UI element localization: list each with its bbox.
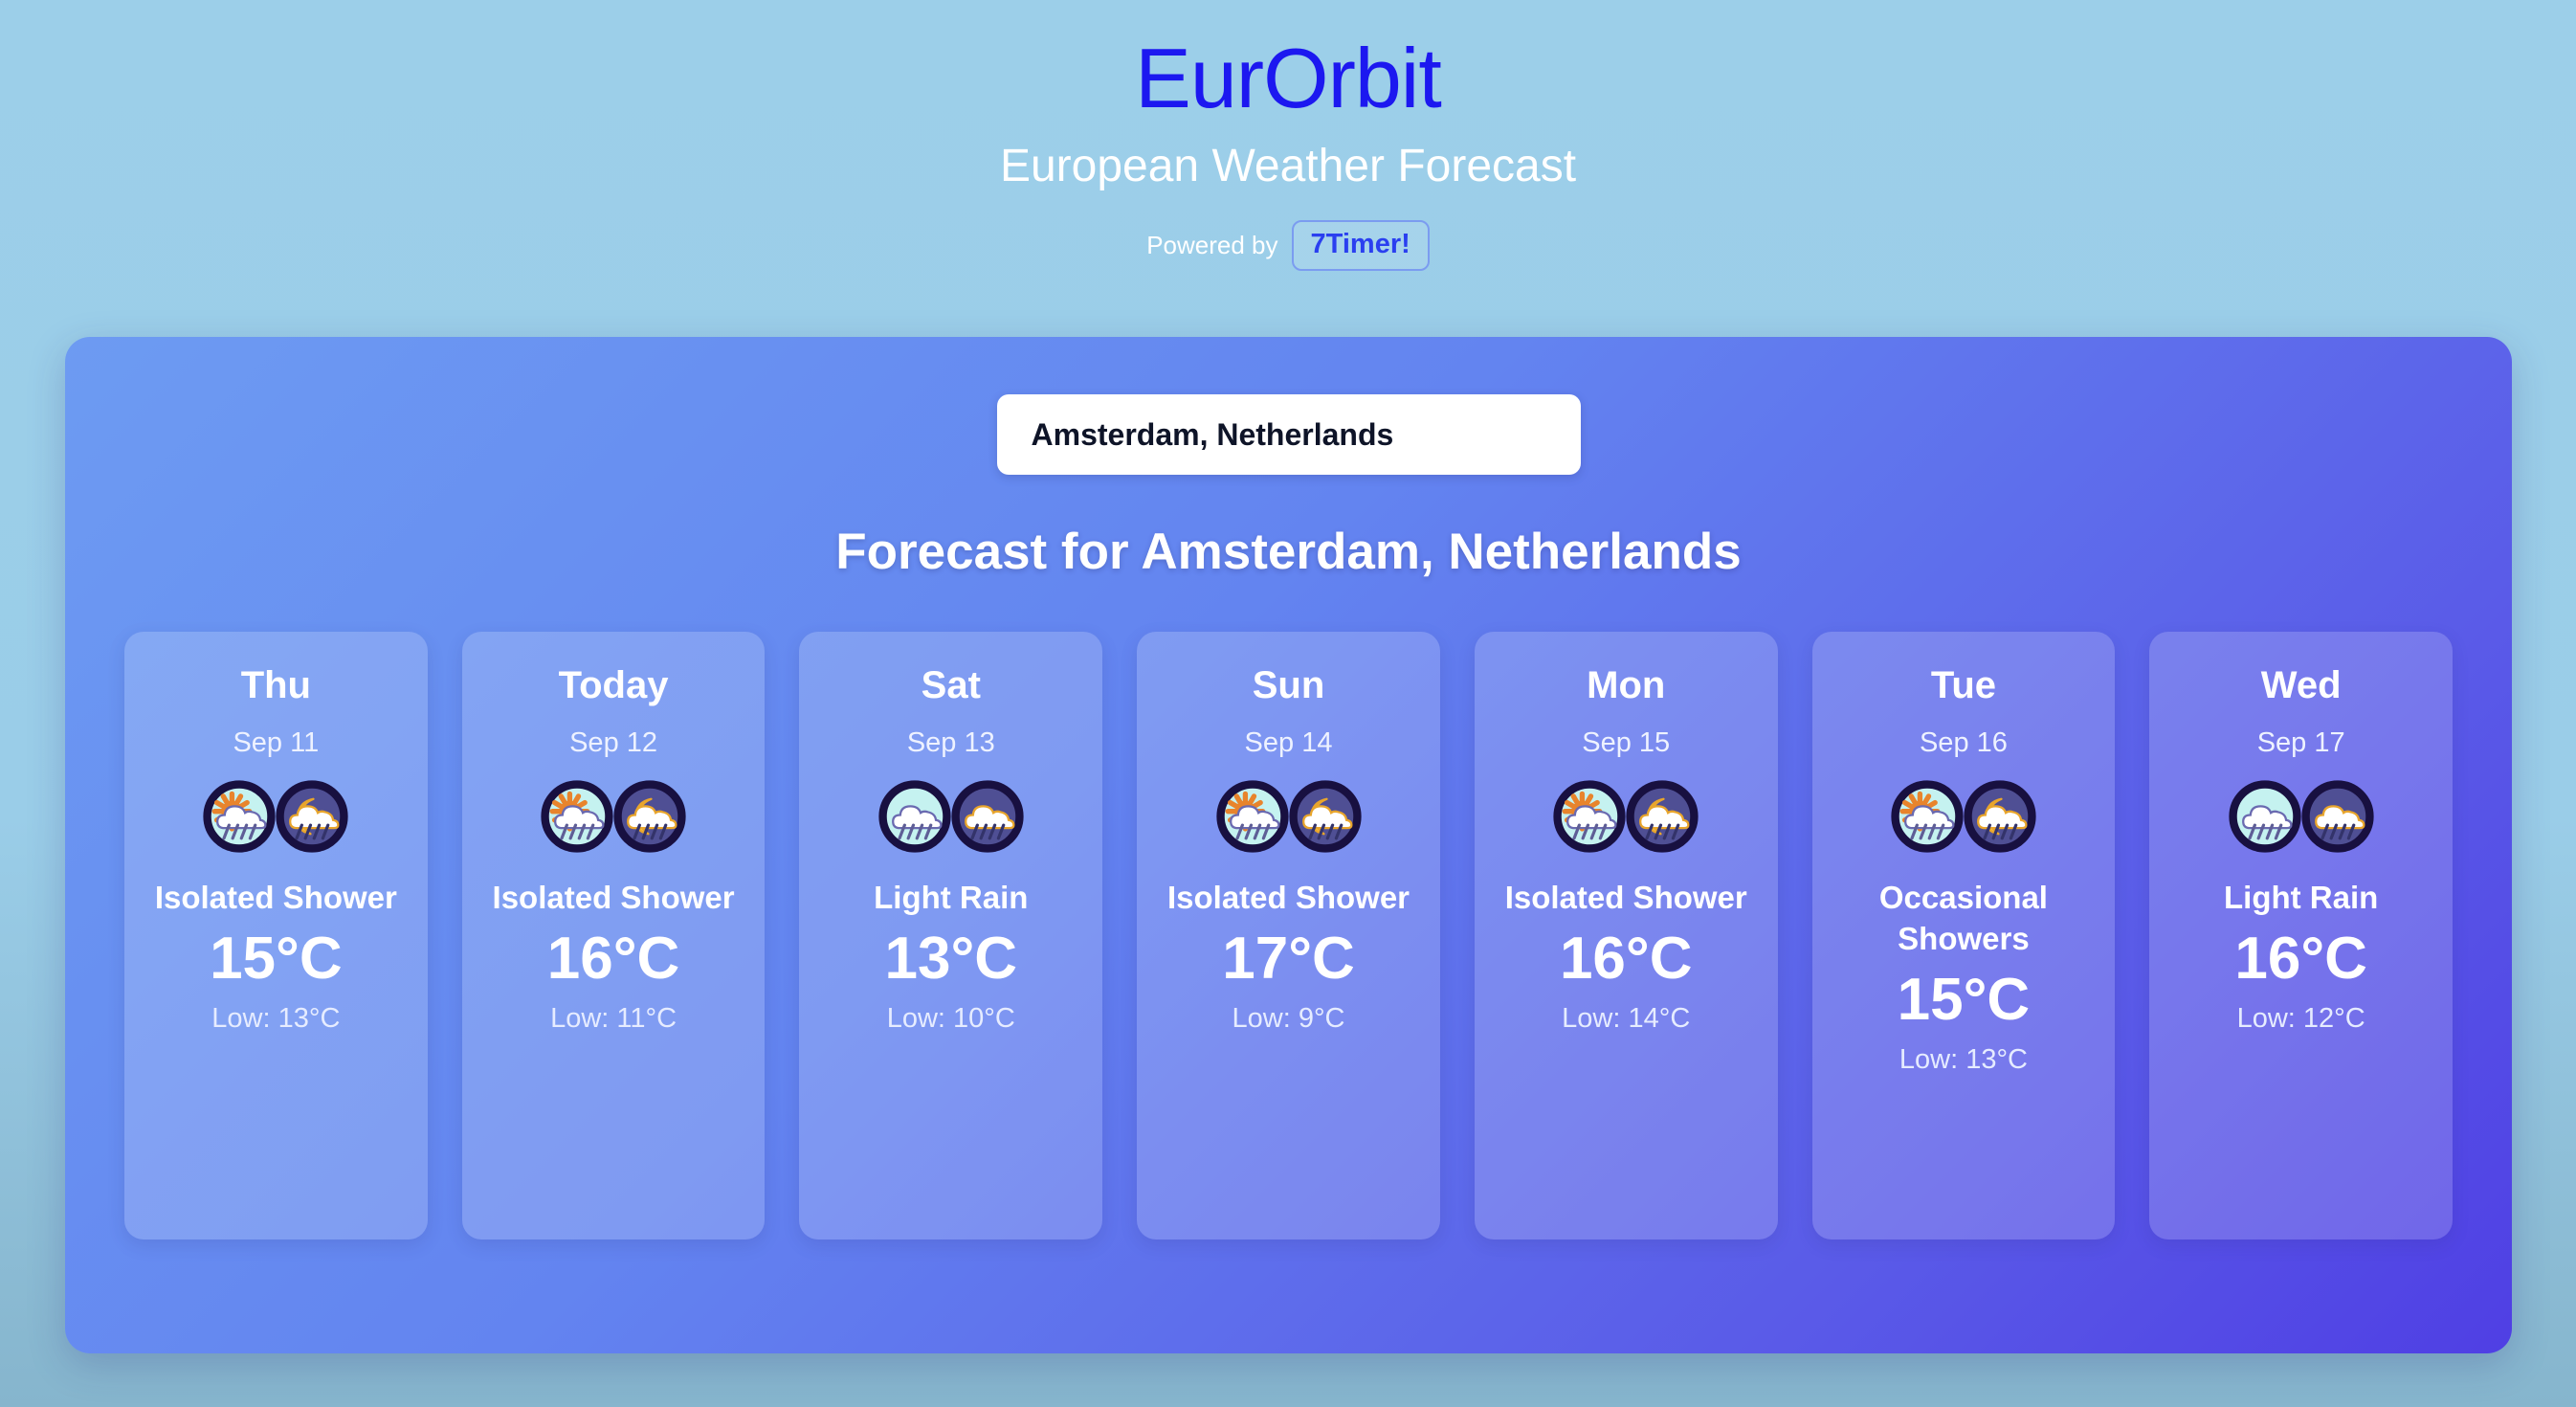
day-condition: Light Rain xyxy=(2214,878,2387,919)
moon-cloud-rain-icon xyxy=(613,780,686,853)
forecast-day-card[interactable]: MonSep 15Isolated Shower16°CLow: 14°C xyxy=(1475,632,1778,1239)
powered-by-row: Powered by 7Timer! xyxy=(0,220,2576,271)
day-condition: Isolated Shower xyxy=(145,878,407,919)
day-low-temp: Low: 11°C xyxy=(550,1005,677,1033)
page-header: EurOrbit European Weather Forecast Power… xyxy=(0,0,2576,271)
cloud-rain-icon xyxy=(878,780,951,853)
forecast-day-card[interactable]: TodaySep 12Isolated Shower16°CLow: 11°C xyxy=(462,632,766,1239)
day-name: Tue xyxy=(1931,666,1996,704)
cloud-rain-night-icon xyxy=(2301,780,2374,853)
day-low-temp: Low: 13°C xyxy=(1899,1046,2028,1074)
weather-icons-pair xyxy=(541,780,686,853)
forecast-day-card[interactable]: SatSep 13Light Rain13°CLow: 10°C xyxy=(799,632,1102,1239)
day-name: Sat xyxy=(922,666,981,704)
cloud-rain-night-icon xyxy=(951,780,1024,853)
moon-cloud-rain-icon xyxy=(276,780,348,853)
day-low-temp: Low: 13°C xyxy=(211,1005,340,1033)
day-date: Sep 13 xyxy=(907,729,995,757)
day-date: Sep 17 xyxy=(2257,729,2345,757)
app-title: EurOrbit xyxy=(0,36,2576,121)
day-high-temp: 16°C xyxy=(547,927,680,992)
sun-cloud-rain-icon xyxy=(1553,780,1626,853)
day-high-temp: 15°C xyxy=(1898,968,2031,1033)
sun-cloud-rain-icon xyxy=(1216,780,1289,853)
day-name: Today xyxy=(559,666,669,704)
day-date: Sep 12 xyxy=(569,729,657,757)
forecast-day-card[interactable]: ThuSep 11Isolated Shower15°CLow: 13°C xyxy=(124,632,428,1239)
day-high-temp: 16°C xyxy=(2234,927,2367,992)
weather-icons-pair xyxy=(1216,780,1362,853)
day-name: Sun xyxy=(1253,666,1325,704)
day-low-temp: Low: 14°C xyxy=(1562,1005,1690,1033)
day-high-temp: 15°C xyxy=(210,927,343,992)
forecast-heading: Forecast for Amsterdam, Netherlands xyxy=(65,526,2512,577)
day-name: Wed xyxy=(2261,666,2342,704)
seventimer-link[interactable]: 7Timer! xyxy=(1292,220,1430,271)
city-select[interactable]: Amsterdam, Netherlands xyxy=(997,394,1581,475)
day-date: Sep 16 xyxy=(1920,729,2008,757)
forecast-day-card[interactable]: SunSep 14Isolated Shower17°CLow: 9°C xyxy=(1137,632,1440,1239)
day-low-temp: Low: 12°C xyxy=(2237,1005,2365,1033)
sun-cloud-rain-icon xyxy=(203,780,276,853)
powered-by-label: Powered by xyxy=(1146,231,1277,260)
moon-cloud-rain-icon xyxy=(1626,780,1699,853)
day-name: Thu xyxy=(241,666,311,704)
day-high-temp: 16°C xyxy=(1560,927,1693,992)
day-name: Mon xyxy=(1587,666,1665,704)
day-low-temp: Low: 10°C xyxy=(887,1005,1015,1033)
day-condition: Light Rain xyxy=(864,878,1037,919)
weather-icons-pair xyxy=(878,780,1024,853)
sun-cloud-rain-icon xyxy=(1891,780,1964,853)
weather-icons-pair xyxy=(203,780,348,853)
sun-cloud-rain-icon xyxy=(541,780,613,853)
forecast-panel: Amsterdam, Netherlands Forecast for Amst… xyxy=(65,337,2512,1353)
day-condition: Isolated Shower xyxy=(1158,878,1419,919)
day-high-temp: 13°C xyxy=(885,927,1018,992)
day-condition: Isolated Shower xyxy=(483,878,744,919)
forecast-cards-row: ThuSep 11Isolated Shower15°CLow: 13°CTod… xyxy=(65,632,2512,1239)
day-condition: Isolated Shower xyxy=(1496,878,1757,919)
day-date: Sep 11 xyxy=(233,729,319,757)
day-date: Sep 15 xyxy=(1582,729,1670,757)
cloud-rain-icon xyxy=(2229,780,2301,853)
weather-icons-pair xyxy=(1891,780,2036,853)
weather-icons-pair xyxy=(2229,780,2374,853)
day-condition: Occasional Showers xyxy=(1812,878,2116,960)
day-date: Sep 14 xyxy=(1245,729,1333,757)
app-subtitle: European Weather Forecast xyxy=(0,144,2576,190)
city-select-wrap: Amsterdam, Netherlands xyxy=(65,394,2512,475)
moon-cloud-rain-icon xyxy=(1964,780,2036,853)
moon-cloud-rain-icon xyxy=(1289,780,1362,853)
forecast-day-card[interactable]: WedSep 17Light Rain16°CLow: 12°C xyxy=(2149,632,2453,1239)
weather-icons-pair xyxy=(1553,780,1699,853)
footer-sliver xyxy=(0,1390,2576,1407)
day-low-temp: Low: 9°C xyxy=(1232,1005,1345,1033)
forecast-day-card[interactable]: TueSep 16Occasional Showers15°CLow: 13°C xyxy=(1812,632,2116,1239)
city-select-value: Amsterdam, Netherlands xyxy=(1032,417,1394,453)
day-high-temp: 17°C xyxy=(1222,927,1355,992)
